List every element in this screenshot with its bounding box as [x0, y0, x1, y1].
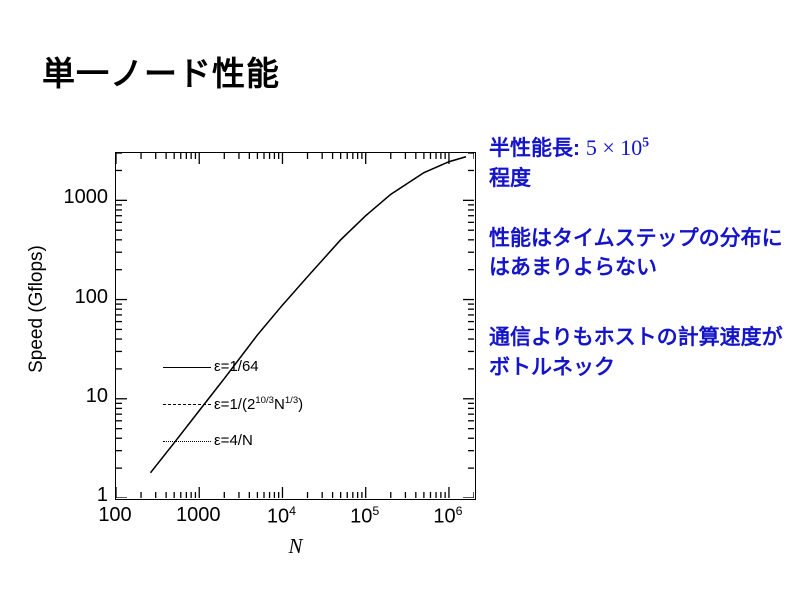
x-tick-label-1000: 1000: [176, 504, 221, 527]
y-axis-tick-labels: 1101001000: [40, 152, 108, 500]
notes-panel: 半性能長: 5 × 105 程度 性能はタイムステップの分布にはあまりよらない …: [489, 132, 794, 401]
x-tick-label-1000000: 106: [433, 504, 462, 529]
legend-item-eps-scaled: ε=1/(210/3N1/3): [163, 385, 463, 422]
note-0-tail: 程度: [489, 167, 531, 190]
y-axis-title: Speed (Gflops): [26, 214, 48, 404]
x-tick-label-100: 100: [98, 504, 131, 527]
x-tick-label-100000: 105: [350, 504, 379, 529]
note-half-performance-length: 半性能長: 5 × 105 程度: [489, 132, 794, 194]
x-axis-tick-labels: 1001000104105106: [115, 504, 476, 534]
chart-legend: ε=1/64ε=1/(210/3N1/3)ε=4/N: [163, 348, 463, 459]
y-tick-label-10: 10: [86, 385, 108, 408]
legend-item-eps-1-over-64: ε=1/64: [163, 348, 463, 385]
y-tick-label-100: 100: [75, 286, 108, 309]
legend-line-sample-dotted: [163, 435, 211, 447]
note-0-math-exponent: 5: [642, 135, 649, 150]
legend-label-eps-1-over-64: ε=1/64: [214, 358, 259, 375]
note-0-math-base: 5 × 10: [586, 135, 642, 160]
x-tick-label-10000: 104: [267, 504, 296, 529]
y-tick-label-1000: 1000: [64, 186, 109, 209]
note-timestep-distribution: 性能はタイムステップの分布にはあまりよらない: [489, 224, 794, 284]
legend-label-eps-scaled: ε=1/(210/3N1/3): [214, 395, 303, 413]
performance-chart: 1101001000 1001000104105106 Speed (Gflop…: [0, 130, 500, 570]
note-host-bottleneck: 通信よりもホストの計算速度がボトルネック: [489, 323, 794, 383]
note-0-math: 5 × 105: [586, 135, 649, 160]
legend-item-eps-4-over-N: ε=4/N: [163, 422, 463, 459]
note-0-lead: 半性能長:: [489, 137, 586, 160]
page-title: 単一ノード性能: [42, 56, 280, 92]
legend-label-eps-4-over-N: ε=4/N: [214, 432, 253, 449]
legend-line-sample-solid: [163, 361, 211, 373]
legend-line-sample-dashed: [163, 398, 211, 410]
x-axis-title: N: [115, 534, 476, 559]
